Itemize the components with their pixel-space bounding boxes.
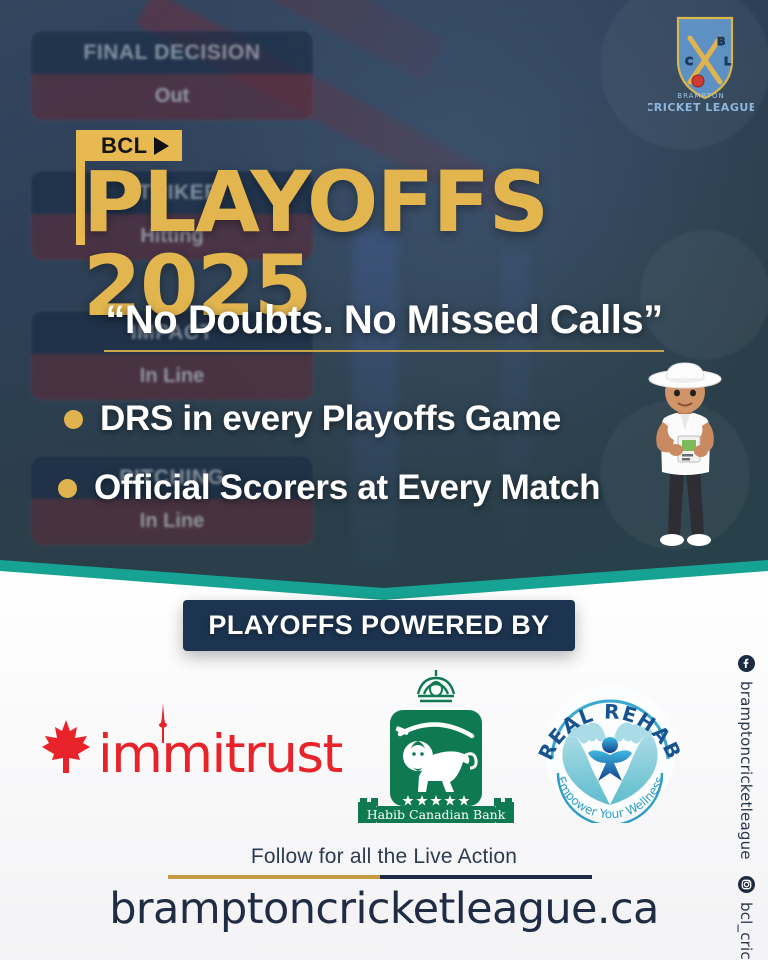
drs-card-header: FINAL DECISION [31,31,313,74]
bcl-shield-logo: B C L BRAMPTON CRICKET LEAGUE [648,12,754,116]
drs-card-value: Out [31,74,313,120]
sponsor-logo-real-rehab: REAL REHAB Empower Your Wellness [530,673,690,823]
footer-divider-navy [380,875,592,879]
bullet-label: DRS in every Playoffs Game [100,399,561,439]
powered-by-banner: PLAYOFFS POWERED BY [183,600,575,651]
svg-text:B: B [717,35,725,48]
umpire-character-illustration [620,360,750,560]
sponsor-logo-habib-canadian-bank: Habib Canadian Bank [346,668,526,828]
drs-card: FINAL DECISION Out [30,30,314,121]
logo-main-text: CRICKET LEAGUE [648,101,754,114]
svg-text:L: L [724,55,731,68]
social-rail: bramptoncricketleague bcl_cricket [726,655,766,955]
social-item-instagram[interactable]: bcl_cricket [737,876,755,960]
drs-card-value: In Line [31,354,313,400]
sponsor-wordmark: Habib Canadian Bank [367,807,506,822]
cn-tower-icon [155,703,171,743]
social-item-facebook[interactable]: bramptoncricketleague [737,655,755,860]
sponsor-logo-immitrust: immitrust [40,717,342,779]
instagram-icon [738,876,755,893]
social-handle: bcl_cricket [737,902,755,960]
sponsor-wordmark: immitrust [98,724,342,785]
maple-leaf-icon [40,717,92,779]
footer-divider-gold [168,875,380,879]
playoffs-promo-poster: FINAL DECISION Out STRIKER Hitting IMPAC… [0,0,768,960]
bullet-label: Official Scorers at Every Match [94,468,600,508]
play-triangle-icon [154,137,169,155]
list-item: DRS in every Playoffs Game [64,399,561,439]
powered-by-label: PLAYOFFS POWERED BY [208,610,549,641]
tagline-divider [104,350,664,352]
facebook-icon [738,655,755,672]
bullet-dot-icon [64,410,83,429]
svg-text:C: C [685,55,693,68]
footer-divider [168,875,592,879]
social-handle: bramptoncricketleague [737,681,755,860]
sponsor-logo-row: immitrust [40,665,690,830]
website-url[interactable]: bramptoncricketleague.ca [0,884,768,934]
follow-label: Follow for all the Live Action [0,845,768,869]
list-item: Official Scorers at Every Match [58,468,600,508]
logo-top-text: BRAMPTON [677,92,724,100]
tagline: “No Doubts. No Missed Calls” [0,298,768,343]
bullet-dot-icon [58,479,77,498]
